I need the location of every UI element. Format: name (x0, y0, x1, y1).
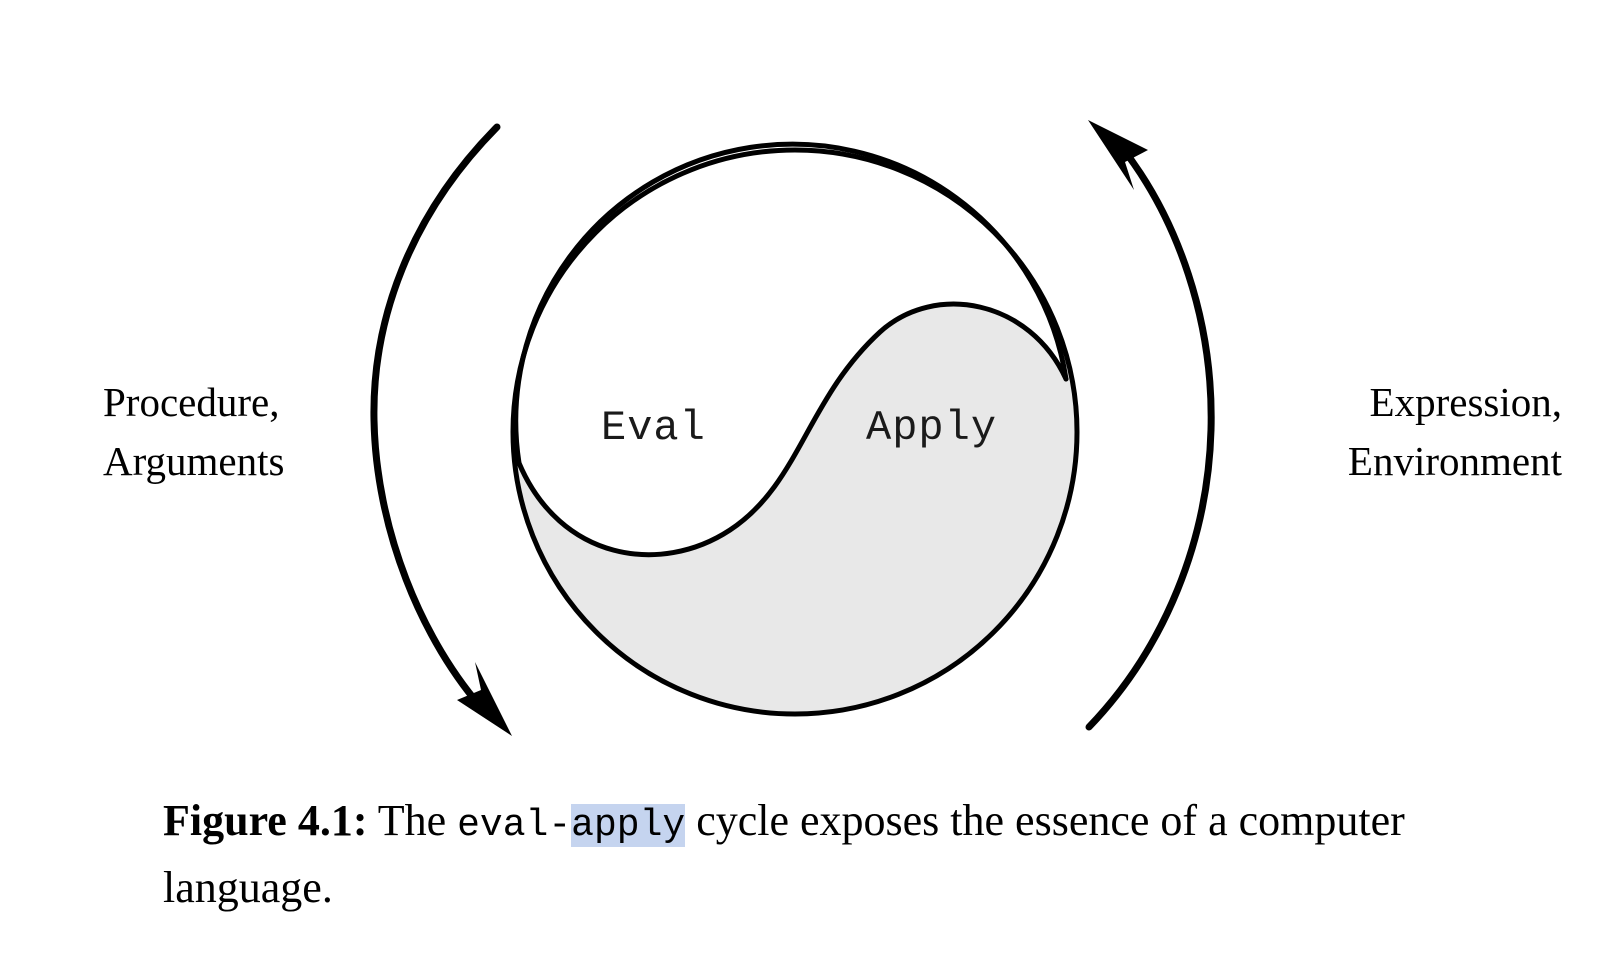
right-arrow-shaft (1089, 145, 1211, 727)
right-arrow-head (1088, 120, 1148, 190)
figure-caption-mono-apply-highlighted: apply (571, 804, 685, 847)
right-ascending-arrow (1088, 120, 1211, 727)
left-arrow-shaft (374, 127, 497, 714)
right-flow-label-line1: Expression, (1348, 373, 1562, 432)
left-flow-label-line1: Procedure, (103, 373, 284, 432)
figure-caption-number: Figure 4.1: (163, 796, 368, 845)
right-flow-label-line2: Environment (1348, 432, 1562, 491)
apply-lobe-label: Apply (866, 404, 997, 452)
figure-illustration: Eval Apply Procedure, Arguments Expressi… (0, 0, 1600, 780)
left-flow-label: Procedure, Arguments (103, 373, 284, 492)
right-flow-label: Expression, Environment (1348, 373, 1562, 492)
figure-page: Eval Apply Procedure, Arguments Expressi… (0, 0, 1600, 966)
left-descending-arrow (374, 127, 512, 736)
figure-caption-mono-eval: eval- (457, 804, 571, 847)
eval-lobe-label: Eval (601, 404, 706, 452)
left-flow-label-line2: Arguments (103, 432, 284, 491)
figure-caption-text-before: The (368, 796, 458, 845)
left-arrow-head (457, 662, 512, 736)
figure-caption: Figure 4.1: The eval-apply cycle exposes… (163, 788, 1493, 922)
